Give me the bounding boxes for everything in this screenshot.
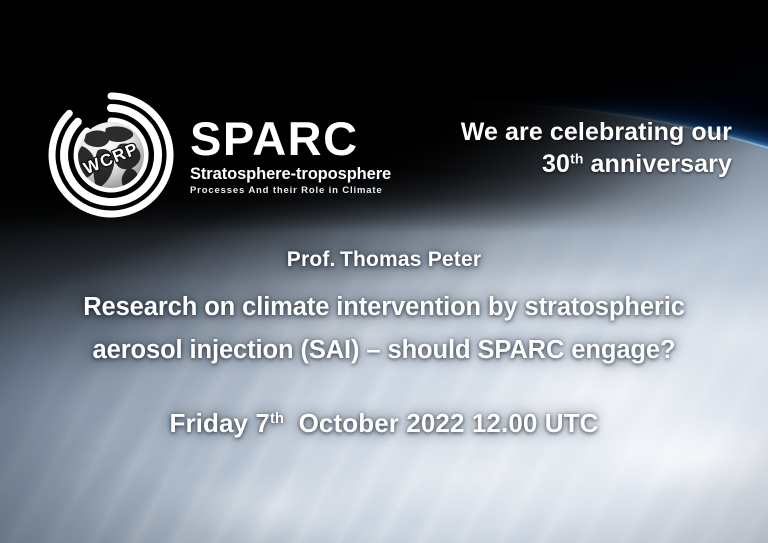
sparc-wordmark-title: SPARC	[190, 116, 391, 161]
event-day-name: Friday	[169, 408, 248, 438]
sparc-logo: WCRP SPARC Stratosphere-troposphere Proc…	[46, 90, 391, 220]
anniversary-line2-tail: anniversary	[583, 150, 732, 178]
webinar-announcement-slide: WCRP SPARC Stratosphere-troposphere Proc…	[0, 0, 768, 543]
talk-title-line-1: Research on climate intervention by stra…	[0, 286, 768, 329]
event-day-number: 7	[255, 408, 270, 438]
anniversary-number: 30	[542, 150, 570, 178]
event-date-rest: October 2022 12.00 UTC	[291, 408, 598, 438]
talk-title-line-2: aerosol injection (SAI) – should SPARC e…	[0, 329, 768, 372]
event-day-ordinal-suffix: th	[270, 411, 284, 427]
wcrp-globe-spiral-logo: WCRP	[46, 90, 176, 220]
sparc-wordmark-subtitle1: Stratosphere-troposphere	[190, 164, 391, 185]
speaker-name: Prof. Thomas Peter	[0, 248, 768, 272]
anniversary-message: We are celebrating our 30th anniversary	[402, 116, 732, 180]
sparc-wordmark-subtitle2: Processes And their Role in Climate	[190, 185, 391, 197]
slide-content: WCRP SPARC Stratosphere-troposphere Proc…	[0, 0, 768, 543]
sparc-wordmark: SPARC Stratosphere-troposphere Processes…	[190, 112, 391, 197]
event-datetime: Friday 7th October 2022 12.00 UTC	[0, 408, 768, 439]
anniversary-ordinal-suffix: th	[570, 150, 583, 166]
anniversary-line1: We are celebrating our	[461, 118, 732, 146]
talk-information: Prof. Thomas Peter Research on climate i…	[0, 248, 768, 372]
